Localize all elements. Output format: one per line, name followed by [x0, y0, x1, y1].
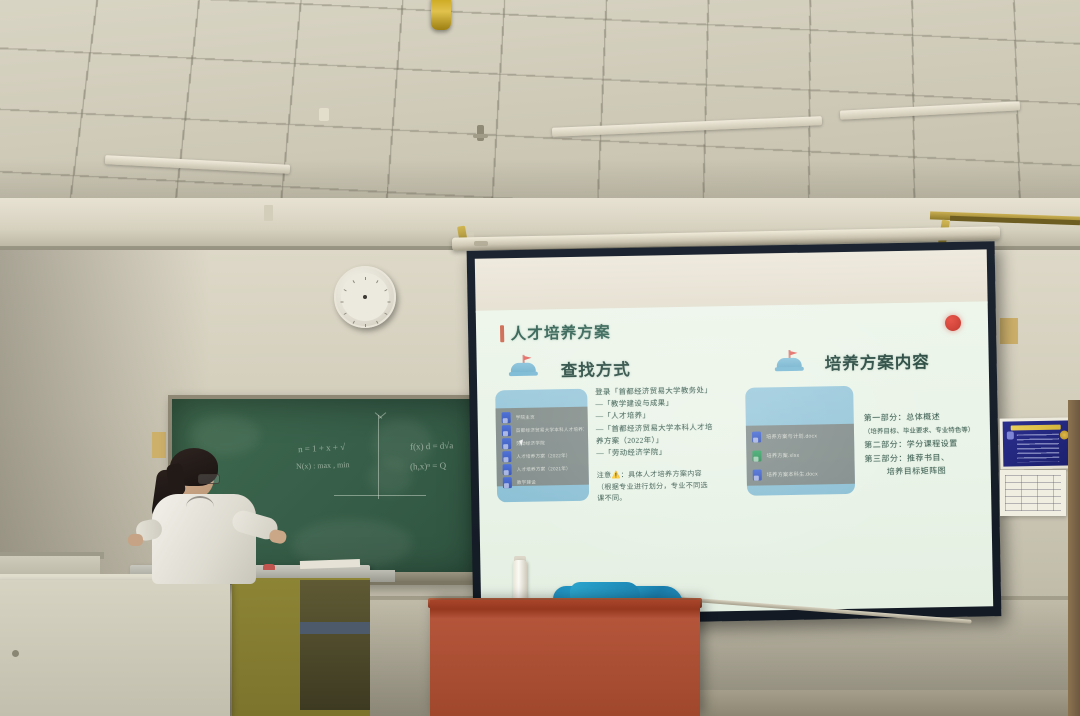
desk-opening	[300, 580, 370, 710]
wall-notch	[1000, 318, 1018, 344]
list-item[interactable]: 人才培养方案（2021年）	[503, 463, 585, 476]
door-frame	[1068, 400, 1080, 716]
graduation-cap-icon	[777, 353, 802, 369]
floor	[700, 690, 1080, 716]
word-file-icon	[502, 451, 511, 462]
left-body-text: 登录「首都经济贸易大学教务处」 —「教学建设与成果」 —「人才培养」 —「首都经…	[595, 384, 728, 460]
beam-tab	[264, 205, 273, 221]
body-line: —「劳动经济学院」	[596, 445, 728, 460]
wall-clock	[334, 266, 396, 328]
metal-cabinet	[0, 580, 230, 716]
left-note-text: 注意⚠️：具体人才培养方案内容 （根据专业进行划分，专业不同选 课不同。	[597, 468, 734, 505]
poster-text-lines	[1017, 434, 1059, 463]
file-name: 培养方案与计划.docx	[766, 432, 817, 440]
glasses-icon	[198, 474, 220, 484]
slide-decor-dot	[945, 315, 961, 331]
body-line: —「首都经济贸易大学本科人才培	[596, 421, 728, 436]
note-line: 课不同。	[597, 491, 733, 505]
sprinkler-icon	[477, 125, 484, 141]
list-item[interactable]: 培养方案与计划.docx	[752, 430, 850, 443]
word-file-icon	[502, 425, 511, 436]
file-name: 培养方案.xlsx	[766, 452, 799, 460]
presentation-slide: 人才培养方案 查找方式 学院主页 首都经济贸易大学本科人才培养方案	[476, 301, 994, 615]
list-item[interactable]: 劳动经济学院	[502, 437, 584, 450]
word-file-icon	[503, 477, 512, 488]
list-item[interactable]: 人才培养方案（2022年）	[502, 450, 584, 463]
presenter	[140, 448, 260, 578]
body-line: 培养目标矩阵图	[865, 464, 991, 480]
chalk-note: (h,x)ⁿ = Q	[410, 460, 446, 471]
left-file-card: 学院主页 首都经济贸易大学本科人才培养方案 劳动经济学院 人才培养方案（2022…	[495, 389, 589, 503]
poster-body	[1003, 420, 1074, 466]
yellow-ceiling-lamp	[431, 0, 451, 30]
word-file-icon	[752, 432, 761, 443]
list-item[interactable]: 培养方案.xlsx	[752, 449, 850, 462]
schedule-grid	[1005, 475, 1061, 511]
schedule-sheet	[1000, 470, 1066, 516]
list-item[interactable]: 教学建设	[503, 476, 585, 489]
desk-shelf	[300, 622, 370, 634]
right-body-text: 第一部分：总体概述 （培养目标、毕业要求、专业特色等） 第二部分：学分课程设置 …	[864, 409, 991, 479]
word-file-icon	[502, 438, 511, 449]
word-file-icon	[753, 469, 762, 480]
file-name: 学院主页	[516, 414, 535, 420]
chalk-note: n = 1 + x + √	[298, 442, 346, 454]
ceiling-tab	[319, 108, 329, 121]
excel-file-icon	[752, 451, 761, 462]
slide-title: 人才培养方案	[510, 320, 611, 344]
right-file-card: 培养方案与计划.docx 培养方案.xlsx 培养方案本科生.docx	[745, 386, 855, 496]
list-item[interactable]: 学院主页	[502, 411, 584, 424]
slide-title-group: 人才培养方案	[500, 320, 611, 344]
graduation-cap-icon	[511, 358, 536, 374]
word-file-icon	[502, 412, 511, 423]
left-hand	[128, 534, 143, 546]
poster-badge-icon	[1007, 431, 1014, 439]
file-name: 人才培养方案（2021年）	[517, 465, 571, 472]
left-file-panel: 学院主页 首都经济贸易大学本科人才培养方案 劳动经济学院 人才培养方案（2022…	[495, 407, 588, 487]
word-file-icon	[503, 464, 512, 475]
clock-center-pin	[363, 295, 367, 299]
blue-notice-poster	[1000, 417, 1077, 469]
file-name: 人才培养方案（2022年）	[516, 452, 570, 459]
file-name: 培养方案本科生.docx	[767, 470, 818, 478]
left-section-heading: 查找方式	[561, 356, 631, 381]
file-name: 教学建设	[517, 479, 536, 485]
list-item[interactable]: 首都经济贸易大学本科人才培养方案	[502, 424, 584, 437]
classroom-scene: n = 1 + x + √ N(x) : max , min f(x) d = …	[0, 0, 1080, 716]
poster-title-band	[1011, 425, 1061, 431]
body-line: （培养目标、毕业要求、专业特色等）	[864, 423, 990, 439]
list-item[interactable]: 培养方案本科生.docx	[753, 468, 851, 481]
chalk-note: f(x) d = d√a	[410, 440, 454, 452]
title-accent-bar	[500, 325, 504, 342]
clock-face	[341, 273, 389, 321]
wooden-podium	[430, 600, 700, 716]
cabinet-knob[interactable]	[12, 650, 19, 657]
chalk-note: N(x) : max , min	[296, 460, 350, 471]
right-file-panel: 培养方案与计划.docx 培养方案.xlsx 培养方案本科生.docx	[746, 424, 855, 486]
right-section-heading: 培养方案内容	[824, 348, 929, 374]
file-name: 首都经济贸易大学本科人才培养方案	[516, 426, 584, 433]
projector-screen: 人才培养方案 查找方式 学院主页 首都经济贸易大学本科人才培养方案	[467, 241, 1002, 626]
screen-roller-cap	[474, 241, 488, 246]
lanyard	[186, 496, 214, 518]
